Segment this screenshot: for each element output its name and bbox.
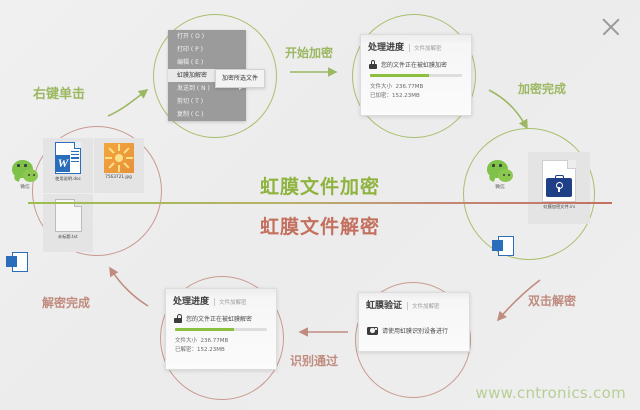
dialog-iris-verify: 虹膜验证 文件加解密 请使用虹膜识别设备进行 <box>358 292 470 352</box>
encrypt-done-row: 已加密：152.23MB <box>370 92 462 101</box>
menu-item-edit[interactable]: 编辑 ( E ) <box>168 56 246 69</box>
encrypt-file-size-value: 236.77MB <box>396 84 424 90</box>
dialog-decrypt-message: 您的文件正在被虹膜解密 <box>186 314 252 323</box>
encrypt-done-value: 152.23MB <box>392 93 420 99</box>
step-label-verify-pass: 识别通过 <box>290 352 338 369</box>
menu-item-copy-label: 复制 ( C ) <box>177 111 204 118</box>
step-label-right-click: 右键单击 <box>33 83 85 102</box>
dialog-verify-message-row: 请使用虹膜识别设备进行 <box>359 314 469 337</box>
dialog-decrypt-progress: 处理进度 文件加解密 您的文件正在被虹膜解密 文件大小 236.77MB 已解密… <box>165 288 277 370</box>
dialog-verify-title: 虹膜验证 <box>366 298 402 311</box>
camera-icon <box>367 327 378 335</box>
submenu-encrypt-selected-files-label: 加密所选文件 <box>222 75 258 82</box>
title-divider <box>28 202 612 204</box>
menu-item-open[interactable]: 打开 ( O ) <box>168 30 246 43</box>
flow-diagram-canvas: 打开 ( O ) 打印 ( P ) 编辑 ( E ) 虹膜加解密 发送到 ( N… <box>0 0 640 410</box>
submenu-encrypt-selected-files[interactable]: 加密所选文件 <box>215 69 265 88</box>
menu-item-send-to-label: 发送到 ( N ) <box>177 85 210 92</box>
menu-item-print-label: 打印 ( P ) <box>177 46 203 53</box>
lock-closed-icon <box>369 60 377 69</box>
dialog-encrypt-title: 处理进度 <box>368 40 404 53</box>
arrow-rightclick <box>108 90 147 116</box>
menu-item-cut-label: 剪切 ( T ) <box>177 98 203 105</box>
dialog-encrypt-message-row: 您的文件正在被虹膜加密 <box>361 56 471 71</box>
step-label-decrypt-done: 解密完成 <box>42 294 90 311</box>
menu-item-print[interactable]: 打印 ( P ) <box>168 43 246 56</box>
page-title-decrypt: 虹膜文件解密 <box>0 212 640 239</box>
decrypt-done-label: 已解密： <box>175 347 197 353</box>
decrypt-done-value: 152.23MB <box>197 347 225 353</box>
encrypt-file-size-label: 文件大小 <box>370 84 392 90</box>
menu-item-edit-label: 编辑 ( E ) <box>177 59 203 66</box>
dialog-encrypt-subtitle: 文件加解密 <box>409 44 442 52</box>
decrypt-file-size-label: 文件大小 <box>175 338 197 344</box>
dialog-decrypt-message-row: 您的文件正在被虹膜解密 <box>166 310 276 325</box>
dialog-encrypt-progress: 处理进度 文件加解密 您的文件正在被虹膜加密 文件大小 236.77MB 已加密… <box>360 34 472 116</box>
step-label-encrypt-done: 加密完成 <box>518 80 566 97</box>
dialog-verify-header: 虹膜验证 文件加解密 <box>359 293 469 314</box>
dialog-decrypt-header: 处理进度 文件加解密 <box>166 289 276 310</box>
decrypt-file-size-row: 文件大小 236.77MB <box>175 337 267 346</box>
decrypt-done-row: 已解密：152.23MB <box>175 346 267 355</box>
dialog-encrypt-stats: 文件大小 236.77MB 已加密：152.23MB <box>361 77 471 101</box>
page-title-encrypt: 虹膜文件加密 <box>0 172 640 199</box>
lock-open-icon <box>174 314 182 323</box>
dialog-encrypt-header: 处理进度 文件加解密 <box>361 35 471 56</box>
menu-item-open-label: 打开 ( O ) <box>177 33 204 40</box>
step-label-double-click-decrypt: 双击解密 <box>528 292 576 309</box>
doc-shortcut-icon-2 <box>6 252 28 278</box>
file-tile-encrypted-label: 虹膜加密文件.irs <box>543 204 575 210</box>
site-watermark: www.cntronics.com <box>476 384 627 402</box>
dialog-encrypt-message: 您的文件正在被虹膜加密 <box>381 60 447 69</box>
close-icon[interactable] <box>600 16 622 38</box>
image-file-icon <box>104 143 134 173</box>
encrypt-file-size-row: 文件大小 236.77MB <box>370 83 462 92</box>
doc-shortcut-icon <box>492 236 514 262</box>
encrypt-done-label: 已加密： <box>370 93 392 99</box>
step-label-start-encrypt: 开始加密 <box>285 44 333 61</box>
dialog-decrypt-title: 处理进度 <box>173 294 209 307</box>
arrow-decrypt-done <box>110 268 148 306</box>
word-doc-icon: W <box>55 142 81 174</box>
dialog-verify-subtitle: 文件加解密 <box>407 302 440 310</box>
dialog-decrypt-subtitle: 文件加解密 <box>214 298 247 306</box>
dialog-verify-message: 请使用虹膜识别设备进行 <box>382 326 448 335</box>
menu-item-copy[interactable]: 复制 ( C ) <box>168 108 246 121</box>
menu-item-cut[interactable]: 剪切 ( T ) <box>168 95 246 108</box>
dialog-decrypt-stats: 文件大小 236.77MB 已解密：152.23MB <box>166 331 276 355</box>
menu-item-iris-encrypt-decrypt-label: 虹膜加解密 <box>177 72 207 79</box>
decrypt-file-size-value: 236.77MB <box>201 338 229 344</box>
